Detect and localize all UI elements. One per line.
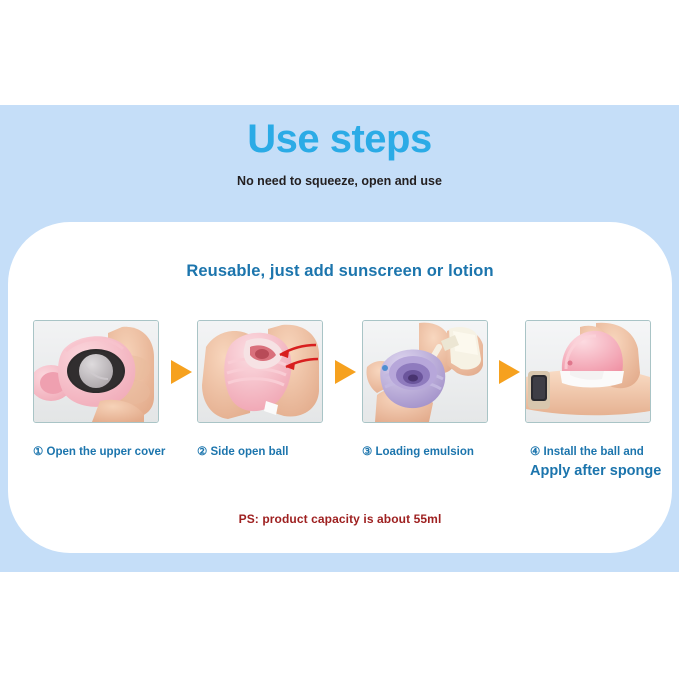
header-block: Use steps No need to squeeze, open and u… [0, 105, 679, 223]
arrow-glyph [168, 358, 194, 386]
photo-open-upper-cover [33, 320, 159, 423]
step-3 [362, 320, 488, 425]
page-subtitle: No need to squeeze, open and use [0, 160, 679, 188]
step-2 [197, 320, 323, 425]
steps-card: Reusable, just add sunscreen or lotion [8, 222, 672, 553]
photo-open-upper-cover-illustration [34, 321, 158, 422]
photo-loading-emulsion [362, 320, 488, 423]
photo-install-and-apply [525, 320, 651, 423]
caption-step-4-line2: Apply after sponge [530, 463, 661, 479]
photo-side-open-ball-illustration [198, 321, 322, 422]
photo-install-and-apply-illustration [526, 321, 650, 422]
arrow-glyph [496, 358, 522, 386]
photo-loading-emulsion-illustration [363, 321, 487, 422]
step-4 [525, 320, 651, 425]
use-steps-infographic: Use steps No need to squeeze, open and u… [0, 0, 679, 679]
page-title: Use steps [0, 105, 679, 160]
arrow-glyph [332, 358, 358, 386]
step-1 [33, 320, 159, 425]
caption-step-1: ① Open the upper cover [33, 444, 165, 458]
steps-row [8, 320, 672, 435]
step-captions: ① Open the upper cover ② Side open ball … [8, 444, 672, 504]
triangle-right-arrow-icon-2 [332, 358, 358, 386]
caption-step-3: ③ Loading emulsion [362, 444, 474, 458]
capacity-footnote: PS: product capacity is about 55ml [8, 512, 672, 526]
card-headline: Reusable, just add sunscreen or lotion [8, 262, 672, 281]
triangle-right-arrow-icon-1 [168, 358, 194, 386]
triangle-right-arrow-icon-3 [496, 358, 522, 386]
photo-side-open-ball [197, 320, 323, 423]
caption-step-2: ② Side open ball [197, 444, 288, 458]
caption-step-4-line1: ④ Install the ball and [530, 446, 644, 458]
caption-step-4: ④ Install the ball and Apply after spong… [530, 444, 661, 479]
